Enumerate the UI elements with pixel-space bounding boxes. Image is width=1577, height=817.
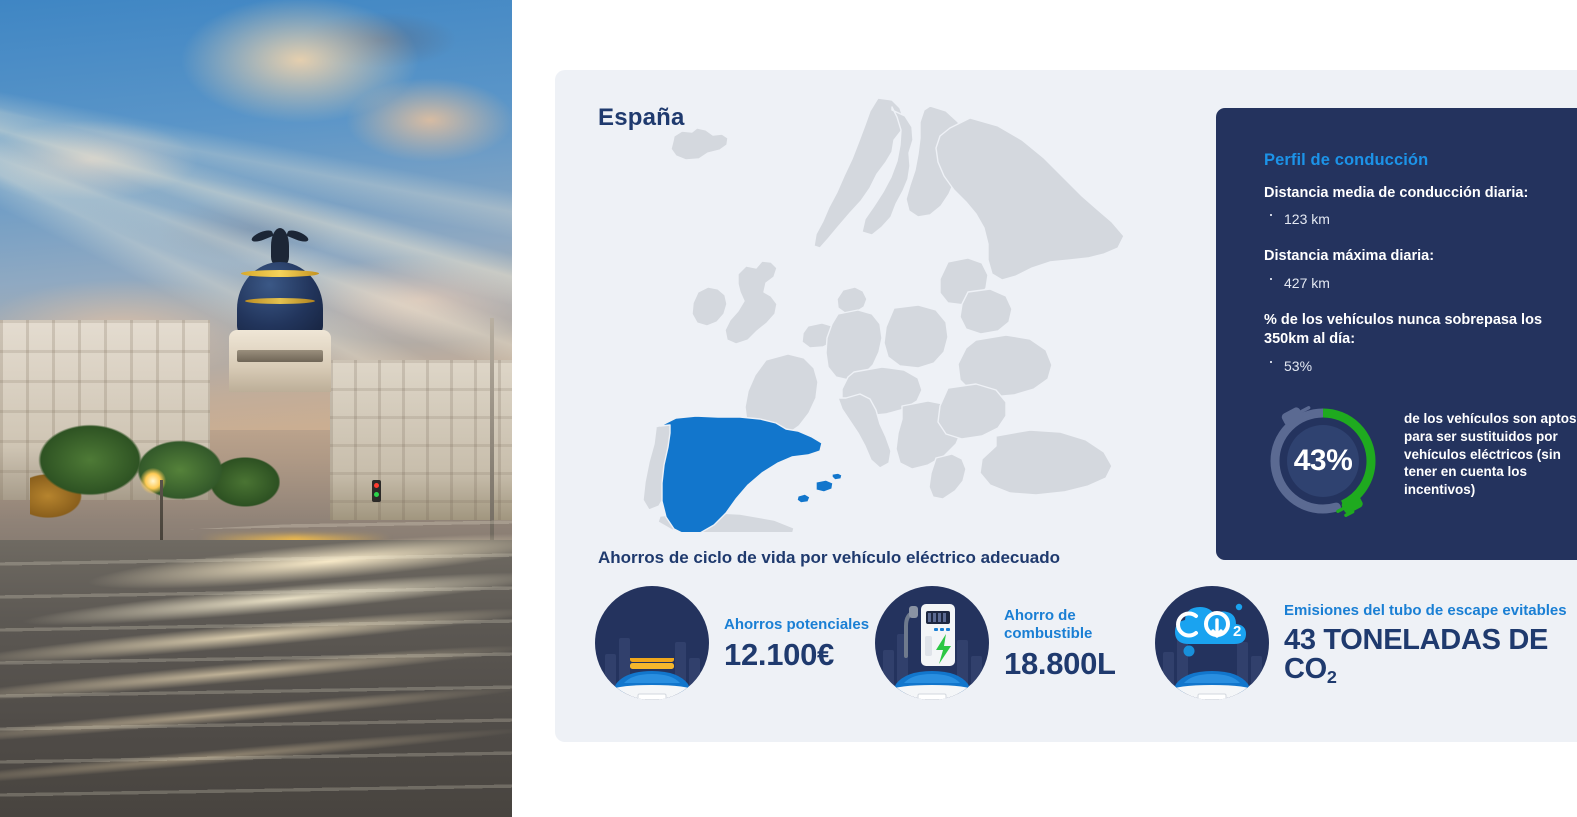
eligibility-donut-row: 43% de los vehículos son aptos para ser … <box>1264 402 1577 520</box>
dome-cornice <box>237 350 323 362</box>
stat-value: 123 km <box>1264 210 1577 228</box>
metric-label: Emisiones del tubo de escape evitables <box>1284 602 1577 620</box>
country-russia <box>936 118 1124 280</box>
dome-gold-band-top <box>241 270 319 277</box>
country-romania-bulgaria <box>938 384 1006 439</box>
savings-heading: Ahorros de ciclo de vida por vehículo el… <box>598 548 1060 568</box>
country-norway <box>814 98 904 248</box>
car-front-icon <box>1160 658 1264 700</box>
balearic-islands <box>816 480 833 492</box>
metric-text: Ahorro de combustible 18.800L <box>1004 607 1155 680</box>
winged-victory-statue <box>271 228 289 264</box>
metric-value-subscript: 2 <box>1327 667 1337 687</box>
country-united-kingdom <box>725 261 777 344</box>
europe-map <box>630 92 1260 532</box>
balearic-ibiza <box>797 494 810 503</box>
metric-value: 18.800L <box>1004 648 1155 679</box>
country-ireland <box>692 287 727 326</box>
stat-label: Distancia máxima diaria: <box>1264 247 1556 266</box>
co2-cloud-icon: 2 <box>1163 598 1261 660</box>
metric-text: Emisiones del tubo de escape evitables 4… <box>1284 602 1577 683</box>
country-belarus <box>960 289 1012 334</box>
metric-fuel-savings: Ahorro de combustible 18.800L <box>875 586 1155 700</box>
eligibility-donut-chart: 43% <box>1264 402 1382 520</box>
country-denmark <box>837 287 867 313</box>
car-front-icon <box>880 658 984 700</box>
country-greece <box>929 454 966 499</box>
hero-photo-madrid <box>0 0 512 817</box>
svg-text:2: 2 <box>1233 623 1241 640</box>
driving-profile-heading: Perfil de conducción <box>1264 151 1577 170</box>
traffic-light-icon <box>372 480 381 502</box>
savings-metrics: Ahorros potenciales 12.100€ <box>595 586 1577 700</box>
donut-description: de los vehículos son aptos para ser sust… <box>1404 410 1577 499</box>
building-right <box>330 360 512 520</box>
stat-never-exceeds: % de los vehículos nunca sobrepasa los 3… <box>1264 311 1577 375</box>
driving-profile-panel: Perfil de conducción Distancia media de … <box>1216 108 1577 560</box>
country-spain-highlighted <box>660 416 842 532</box>
stat-label: % de los vehículos nunca sobrepasa los 3… <box>1264 311 1556 350</box>
country-turkey <box>980 430 1112 495</box>
charging-station-car-icon <box>875 586 989 700</box>
stat-value: 427 km <box>1264 274 1577 292</box>
metric-avoided-emissions: 2 Emisiones del tubo de escape evitables <box>1155 586 1577 700</box>
gran-via-road-light-trails <box>0 540 512 817</box>
dome-gold-band-bottom <box>245 298 315 304</box>
car-front-icon <box>600 658 704 700</box>
stat-value: 53% <box>1264 357 1577 375</box>
stat-label: Distancia media de conducción diaria: <box>1264 184 1556 203</box>
country-iceland <box>671 128 728 160</box>
metric-value-main: 43 TONELADAS DE CO <box>1284 624 1548 685</box>
coin-stack-icon <box>626 658 678 669</box>
balearic-menorca <box>832 473 842 480</box>
metric-potential-savings: Ahorros potenciales 12.100€ <box>595 586 875 700</box>
metric-value: 12.100€ <box>724 639 869 670</box>
metric-value: 43 TONELADAS DE CO2 <box>1284 626 1577 684</box>
stat-average-distance: Distancia media de conducción diaria: 12… <box>1264 184 1577 228</box>
content-card: España <box>555 70 1577 742</box>
co2-cloud-car-icon: 2 <box>1155 586 1269 700</box>
metropolis-dome <box>215 210 345 390</box>
plant-coins-car-icon <box>595 586 709 700</box>
metric-text: Ahorros potenciales 12.100€ <box>724 616 869 670</box>
donut-percent-value: 43% <box>1264 402 1382 520</box>
infographic-page: España <box>0 0 1577 817</box>
stat-max-distance: Distancia máxima diaria: 427 km <box>1264 247 1577 291</box>
metric-label: Ahorro de combustible <box>1004 607 1155 644</box>
country-poland <box>884 305 948 368</box>
metric-label: Ahorros potenciales <box>724 616 869 634</box>
